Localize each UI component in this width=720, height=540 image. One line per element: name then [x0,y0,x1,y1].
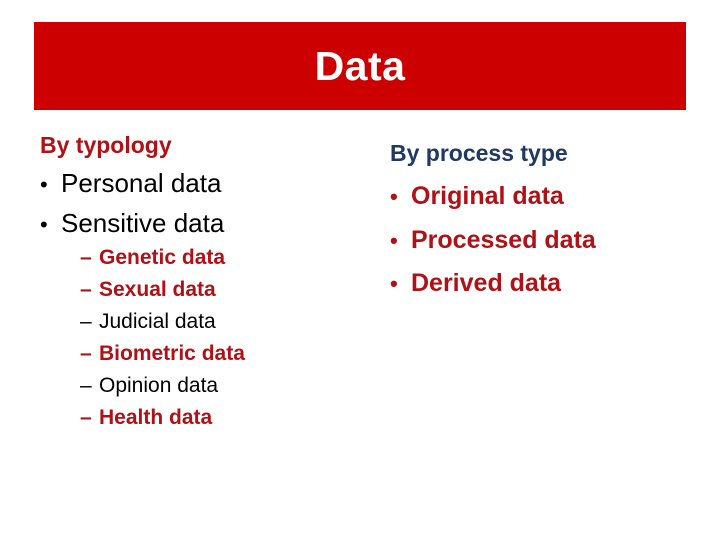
bullet-dot-icon: • [390,230,411,252]
left-column: By typology • Personal data • Sensitive … [40,132,350,429]
sub-list-item[interactable]: – Health data [80,407,350,429]
sub-list-item[interactable]: – Sexual data [80,279,350,301]
dash-marker-icon: – [80,375,99,396]
sub-list-item[interactable]: – Judicial data [80,311,350,333]
list-item[interactable]: • Personal data [40,170,350,197]
list-item-label: Original data [411,183,564,209]
list-item-label: Derived data [411,270,561,296]
bullet-dot-icon: • [390,273,411,295]
list-item[interactable]: • Processed data [390,227,690,253]
right-column: By process type • Original data • Proces… [390,140,690,296]
dash-marker-icon: – [80,247,99,268]
bullet-dot-icon: • [40,214,61,236]
slide-canvas: Data By typology • Personal data • Sensi… [0,0,720,540]
sub-list-item[interactable]: – Genetic data [80,247,350,269]
sub-list-item-label: Genetic data [99,247,225,269]
sub-list-item-label: Health data [99,407,212,429]
bullet-dot-icon: • [390,186,411,208]
sub-list-item[interactable]: – Opinion data [80,375,350,397]
list-item[interactable]: • Sensitive data [40,210,350,237]
dash-marker-icon: – [80,279,99,300]
sub-list-item[interactable]: – Biometric data [80,343,350,365]
list-item[interactable]: • Derived data [390,270,690,296]
right-column-heading: By process type [390,140,690,166]
sub-list-item-label: Opinion data [99,375,218,397]
slide-title-banner: Data [34,22,686,110]
sub-list-item-label: Biometric data [99,343,245,365]
page-title: Data [315,46,406,87]
sub-list-item-label: Judicial data [99,311,216,333]
dash-marker-icon: – [80,311,99,332]
bullet-dot-icon: • [40,174,61,196]
list-item-label: Processed data [411,227,596,253]
left-column-heading: By typology [40,132,350,158]
list-item[interactable]: • Original data [390,183,690,209]
dash-marker-icon: – [80,343,99,364]
dash-marker-icon: – [80,407,99,428]
list-item-label: Sensitive data [61,210,224,237]
sub-list-item-label: Sexual data [99,279,216,301]
list-item-label: Personal data [61,170,221,197]
